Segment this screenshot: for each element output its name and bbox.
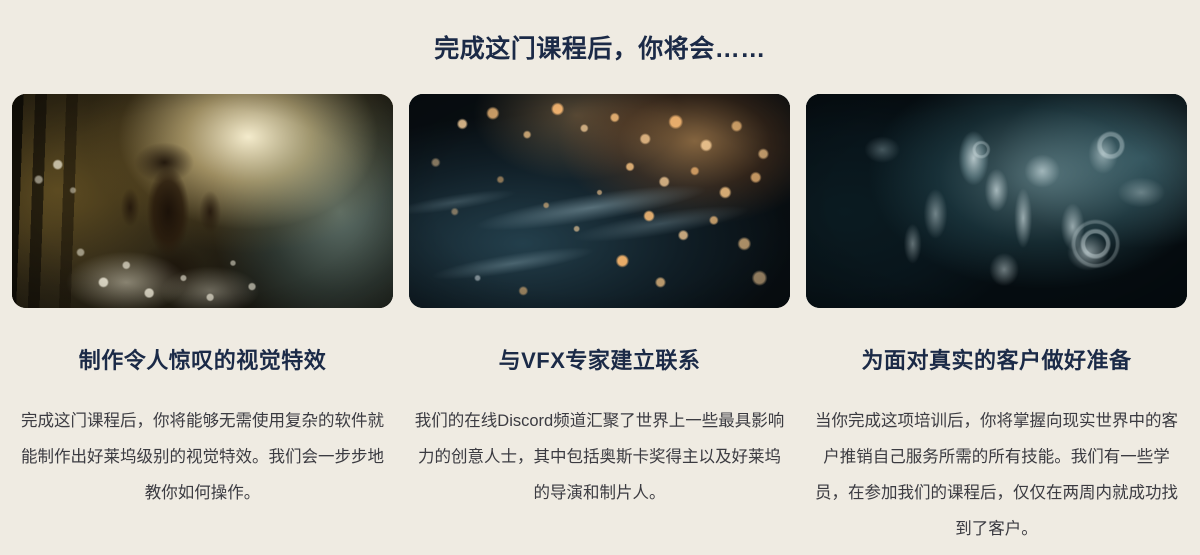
card-body-text: 我们的在线Discord频道汇聚了世界上一些最具影响力的创意人士，其中包括奥斯卡…: [409, 403, 790, 511]
benefit-card: 与VFX专家建立联系 我们的在线Discord频道汇聚了世界上一些最具影响力的创…: [409, 94, 790, 547]
card-body-text: 完成这门课程后，你将能够无需使用复杂的软件就能制作出好莱坞级别的视觉特效。我们会…: [12, 403, 393, 511]
image-vignette: [12, 94, 393, 308]
vfx-smoke-image: [806, 94, 1187, 308]
benefit-card: 制作令人惊叹的视觉特效 完成这门课程后，你将能够无需使用复杂的软件就能制作出好莱…: [12, 94, 393, 547]
image-vignette: [806, 94, 1187, 308]
section-title: 完成这门课程后，你将会……: [0, 29, 1200, 65]
benefit-card: 为面对真实的客户做好准备 当你完成这项培训后，你将掌握向现实世界中的客户推销自己…: [806, 94, 1187, 547]
benefit-card-list: 制作令人惊叹的视觉特效 完成这门课程后，你将能够无需使用复杂的软件就能制作出好莱…: [12, 94, 1188, 547]
benefits-section: 完成这门课程后，你将会…… 制作令人惊叹的视觉特效 完成这门课程后，你将能够无需…: [0, 0, 1200, 555]
image-vignette: [409, 94, 790, 308]
vfx-water-runner-image: [12, 94, 393, 308]
card-body-text: 当你完成这项培训后，你将掌握向现实世界中的客户推销自己服务所需的所有技能。我们有…: [806, 403, 1187, 547]
card-heading: 为面对真实的客户做好准备: [806, 348, 1187, 374]
card-heading: 与VFX专家建立联系: [409, 348, 790, 374]
vfx-embers-image: [409, 94, 790, 308]
card-heading: 制作令人惊叹的视觉特效: [12, 348, 393, 374]
